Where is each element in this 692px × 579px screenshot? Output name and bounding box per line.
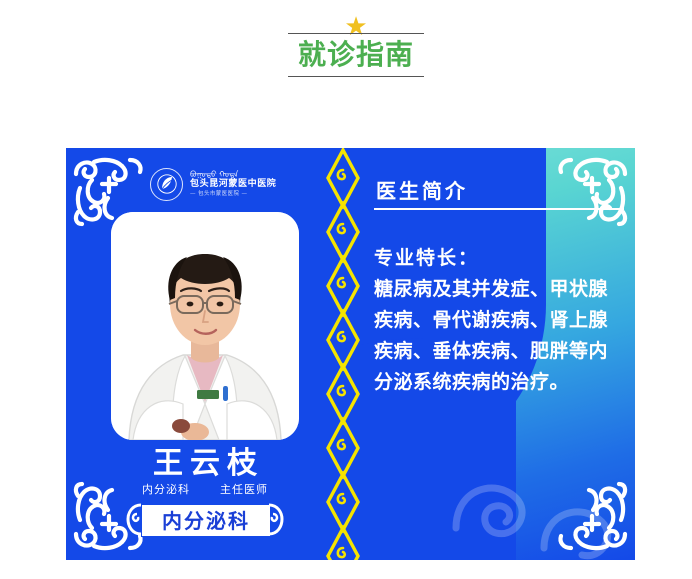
hospital-mongolian-name: ᠪᠤᠭᠤᠲᠤ ᠬᠣᠲᠠ: [190, 171, 315, 179]
leaf-glyph-icon: [156, 173, 178, 195]
doctor-department: 内分泌科: [142, 481, 190, 497]
doctor-profile-card: ᠪᠤᠭᠤᠲᠤ ᠬᠣᠲᠠ 包头昆河蒙医中医院 — 包头市蒙医医院 —: [66, 148, 635, 560]
specialty-text: 糖尿病及其并发症、甲状腺疾病、骨代谢疾病、肾上腺疾病、垂体疾病、肥胖等内分泌系统…: [374, 274, 624, 398]
page-header: ★ 就诊指南: [0, 0, 692, 120]
doctor-title: 主任医师: [220, 481, 268, 497]
badge-scroll-bracket-icon: [126, 503, 144, 536]
doctor-meta: 内分泌科 主任医师: [90, 481, 320, 497]
doctor-name: 王云枝: [90, 445, 320, 483]
header-rule-top: [288, 33, 424, 34]
profile-heading-underline: [374, 208, 624, 210]
badge-scroll-bracket-icon: [266, 503, 284, 536]
doctor-portrait-photo: [111, 212, 299, 440]
corner-scroll-ornament-icon: [555, 480, 629, 554]
specialty-label: 专业特长：: [374, 243, 479, 270]
mongolian-zigzag-divider-icon: [325, 148, 361, 560]
department-badge: 内分泌科: [126, 503, 284, 536]
corner-scroll-ornament-icon: [555, 154, 629, 228]
hospital-name-block: ᠪᠤᠭᠤᠲᠤ ᠬᠣᠲᠠ 包头昆河蒙医中医院 — 包头市蒙医医院 —: [190, 171, 315, 198]
hospital-leaf-emblem-icon: [150, 168, 183, 201]
profile-heading: 医生简介: [376, 175, 468, 204]
header-rule-bottom: [288, 76, 424, 77]
hospital-subtitle: — 包头市蒙医医院 —: [190, 192, 315, 198]
hospital-logo: ᠪᠤᠭᠤᠲᠤ ᠬᠣᠲᠠ 包头昆河蒙医中医院 — 包头市蒙医医院 —: [150, 164, 315, 204]
badge-text: 内分泌科: [160, 505, 250, 534]
page-title: 就诊指南: [288, 36, 424, 74]
hospital-chinese-name: 包头昆河蒙医中医院: [190, 180, 315, 189]
